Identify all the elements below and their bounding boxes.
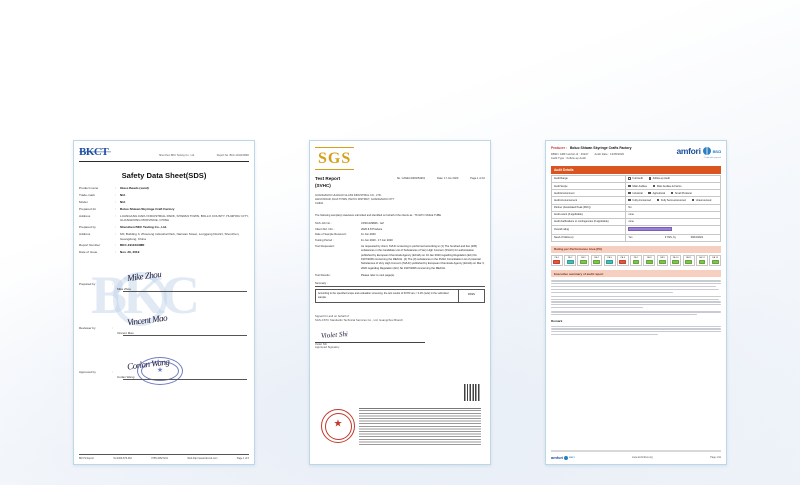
qr-code-icon xyxy=(464,384,481,401)
sgs-field-value: Please refer to next page(s). xyxy=(361,274,485,278)
followup-by-date: 09/10/2021 xyxy=(691,236,704,239)
rating-cell: PA 12 xyxy=(696,255,708,266)
audit-row-label: Audit Scope xyxy=(552,183,626,190)
section-header-ratings: Rating per Performance Area (PA) xyxy=(551,246,721,253)
producer-meta-type: Audit Type : Follow-up Audit xyxy=(551,157,632,161)
signature-role: Prepared by xyxy=(79,282,95,287)
certificate-card-amfori[interactable]: Producer : Boluo Shiwan Skyringe Crafts … xyxy=(545,140,727,465)
report-page: QUALI LNSPETION REPORT Strength certific… xyxy=(0,0,800,485)
audit-row-label: Audit clarifications or contingencies (i… xyxy=(552,218,626,225)
sgs-intro: The following sample(s) was/were submitt… xyxy=(315,214,485,218)
globe-icon xyxy=(703,147,711,155)
checkbox-icon[interactable] xyxy=(692,199,695,202)
sgs-date: Date: 17 Jun 2020 xyxy=(437,177,458,180)
audit-row-value: none xyxy=(626,211,721,218)
sgs-field-key: SGS Job No. : xyxy=(315,222,361,226)
table-row: Audit Range Full Audit Follow-up Audit xyxy=(552,175,721,182)
sgs-client-line: CHINA xyxy=(315,202,485,206)
sgs-content: SGS Test Report (SVHC) No. CANEC19002549… xyxy=(315,146,485,459)
option-label: Full Audit xyxy=(633,177,643,180)
signature-mark: Vincent Mao xyxy=(127,312,168,327)
sds-field: Report Number:BKC-1911034MR xyxy=(79,243,249,247)
checkbox-icon[interactable] xyxy=(648,192,651,195)
status-badge xyxy=(593,260,600,263)
rating-cell: PA 8 xyxy=(643,255,655,266)
sds-field-key: Trade-mark xyxy=(79,193,115,197)
footer-web: Web:http://www.bkcnsb.com xyxy=(187,457,217,460)
sds-header-report-no: Report No. BKC-1911034MR xyxy=(217,154,249,157)
rating-label: PA 6 xyxy=(618,257,628,259)
audit-row-label: Partner (Associated Peak (PAC)) xyxy=(552,204,626,211)
audit-details-table: Audit Range Full Audit Follow-up Audit A… xyxy=(551,175,721,242)
sgs-field-key: Date of Sample Received : xyxy=(315,233,361,237)
footer-page: Page 1/11 xyxy=(710,456,721,459)
sgs-summary-label: Summary : xyxy=(315,282,485,287)
bsci-wordmark-small: BSCI xyxy=(569,457,574,459)
note-block: Remark xyxy=(551,319,721,335)
signature-line xyxy=(123,335,247,336)
status-badge xyxy=(567,260,574,263)
table-row: Audit Environment Industrial Agricultura… xyxy=(552,190,721,197)
sgs-page: Page 1 of 10 xyxy=(470,177,485,180)
option-label: Unannounced xyxy=(696,199,712,202)
sgs-field: Test Results :Please refer to next page(… xyxy=(315,274,485,278)
option-label: Agricultural xyxy=(653,192,666,195)
star-icon: ★ xyxy=(334,419,343,430)
rating-cell: PA 4 xyxy=(591,255,603,266)
sds-field-list: Product name:Glass Beads (sand) Trade-ma… xyxy=(79,186,249,254)
rating-cell: PA 6 xyxy=(617,255,629,266)
need-followup-label: Need of follow-up xyxy=(552,234,626,241)
status-badge xyxy=(659,260,666,263)
sgs-field-value: CP20-029826 - GZ xyxy=(361,222,485,226)
footer-left: BKC'S Report xyxy=(79,457,94,460)
signature-role: Approved by xyxy=(79,370,96,375)
status-badge xyxy=(633,260,640,263)
sgs-summary-box: According to the specified scope and eva… xyxy=(315,289,485,303)
audit-row-options[interactable]: Full Audit Follow-up Audit xyxy=(626,175,721,182)
table-row: Overall rating xyxy=(552,226,721,235)
rating-cell: PA 5 xyxy=(604,255,616,266)
sds-field-value: Glass Beads (sand) xyxy=(120,186,149,190)
status-badge xyxy=(580,260,587,263)
footer-rule xyxy=(551,450,721,452)
producer-name: Boluo Shiwan Skyringe Crafts Factory xyxy=(570,146,632,151)
sgs-summary-text: According to the specified scope and eva… xyxy=(316,290,458,302)
signature-mark: Violet Shi xyxy=(321,330,348,340)
sgs-client-address: GUANGZHOU HUAGAO GLASS INDUSTRIAL CO., L… xyxy=(315,194,485,207)
sgs-field-key: Test Results : xyxy=(315,274,361,278)
sgs-title-line1: Test Report xyxy=(315,176,340,183)
sgs-field: Testing Period :11 Jun 2020 - 17 Jun 202… xyxy=(315,239,485,243)
checkbox-icon[interactable] xyxy=(671,192,674,195)
bsci-wordmark: BSCI xyxy=(713,149,721,154)
star-icon: ★ xyxy=(157,366,163,374)
producer-label: Producer : xyxy=(551,146,567,150)
sds-field: Model:N/A xyxy=(79,200,249,204)
summary-body-text xyxy=(551,280,721,315)
sds-field-key: Prepared by xyxy=(79,225,115,229)
status-badge xyxy=(553,260,560,263)
bkc-logo: BKCT xyxy=(79,146,108,158)
audit-row-label: Audit extent (if applicable) xyxy=(552,211,626,218)
followup-yes: Yes xyxy=(628,236,664,239)
rating-cell: PA 1 xyxy=(551,255,563,266)
checkbox-icon[interactable] xyxy=(628,177,631,180)
audit-row-label: Audit Announcement xyxy=(552,197,626,204)
sgs-field-value: 11 Jun 2020 xyxy=(361,233,485,237)
sgs-report-no: No. CANEC1900254901 xyxy=(397,177,425,180)
sds-field-key: Product name xyxy=(79,186,115,190)
legal-disclaimer-text xyxy=(359,409,481,445)
rating-cell: PA 10 xyxy=(670,255,682,266)
footer-fax: 0755-32527241 xyxy=(151,457,168,460)
checkbox-icon[interactable] xyxy=(628,192,631,195)
audit-row-options[interactable]: Fully Announced Fully Semi-announced Una… xyxy=(626,197,721,204)
sgs-title-row: Test Report (SVHC) No. CANEC1900254901 D… xyxy=(315,176,485,190)
sds-field-key: Prepared for xyxy=(79,207,115,211)
amfori-wordmark-small: amfori xyxy=(551,455,563,460)
sgs-logo-wrap: SGS xyxy=(315,146,485,168)
amfori-tagline: Trade with purpose xyxy=(676,157,721,159)
table-row: Audit clarifications or contingencies (i… xyxy=(552,218,721,225)
rating-cell: PA 9 xyxy=(657,255,669,266)
sds-field: Address:6/F, Building 3, Zhouteng Indust… xyxy=(79,232,249,241)
table-row: Audit Announcement Fully Announced Fully… xyxy=(552,197,721,204)
sgs-field: Test Requested :As requested by client, … xyxy=(315,245,485,271)
note-label: Remark xyxy=(551,319,721,324)
overall-rating-label: Overall rating xyxy=(552,226,626,235)
footer-url[interactable]: www.amforibsci.org xyxy=(632,456,653,459)
sds-field-key: Model xyxy=(79,200,115,204)
rating-label: PA 13 xyxy=(710,257,720,259)
rating-cell: PA 13 xyxy=(709,255,721,266)
option-label: Main Auditee xyxy=(633,185,647,188)
audit-row-options[interactable]: Industrial Agricultural Small Producer xyxy=(626,190,721,197)
rating-label: PA 1 xyxy=(552,257,562,259)
amfori-footer-logo: amfori BSCI xyxy=(551,455,574,460)
footer-row: amfori BSCI www.amforibsci.org Page 1/11 xyxy=(551,455,721,460)
footer-page: Page 1 of 6 xyxy=(237,457,249,460)
sds-field: Date of Issue:Nov. 29, 2019 xyxy=(79,250,249,254)
signature-colon: : xyxy=(112,282,113,286)
rating-label: PA 3 xyxy=(578,257,588,259)
checkbox-icon[interactable] xyxy=(657,199,660,202)
sds-field: Trade-mark:N/A xyxy=(79,193,249,197)
option-label: Industrial xyxy=(633,192,643,195)
sgs-summary-result: PASS xyxy=(458,290,484,302)
signature-block: Approved by Corlan Wang : Corlan Wang ★ xyxy=(79,357,249,391)
footer-row: BKC'S Report Tel:4000-875-362 0755-32527… xyxy=(79,457,249,460)
sgs-logo: SGS xyxy=(315,150,354,168)
signature-mark: Mike Zhou xyxy=(127,269,162,283)
sds-field: Prepared by:Shenzhen BKC Testing Co., Lt… xyxy=(79,225,249,229)
status-badge xyxy=(646,260,653,263)
signature-line xyxy=(123,291,247,292)
status-badge xyxy=(606,260,613,263)
sgs-field: Client Ref. Info. :2020.6.8 Produce xyxy=(315,228,485,232)
certificate-card-sds[interactable]: BKCT Shenzhen BKC Testing Co., Ltd. Repo… xyxy=(73,140,255,465)
checkbox-icon[interactable] xyxy=(653,185,656,188)
rating-cell: PA 2 xyxy=(564,255,576,266)
sds-title: Safety Data Sheet(SDS) xyxy=(79,171,249,180)
audit-row-label: Audit Environment xyxy=(552,190,626,197)
sds-footer: BKC'S Report Tel:4000-875-362 0755-32527… xyxy=(79,454,249,460)
rating-bar xyxy=(628,227,672,230)
sds-field-value: N/A xyxy=(120,193,125,197)
sds-header-meta: Shenzhen BKC Testing Co., Ltd. Report No… xyxy=(159,154,249,158)
sds-field-value: LUANGANG DAFU INDUSTRIAL PARK, SHIWAN TO… xyxy=(120,214,249,223)
table-row: Need of follow-up Yes if YES, by 09/10/2… xyxy=(552,234,721,241)
amfori-brand: amfori BSCI Trade with purpose xyxy=(676,146,721,159)
status-badge xyxy=(699,260,706,263)
amfori-header: Producer : Boluo Shiwan Skyringe Crafts … xyxy=(551,146,721,161)
rating-label: PA 7 xyxy=(631,257,641,259)
certificate-card-sgs[interactable]: SGS Test Report (SVHC) No. CANEC19002549… xyxy=(309,140,491,465)
footer-tel: Tel:4000-875-362 xyxy=(113,457,132,460)
sds-header: BKCT Shenzhen BKC Testing Co., Ltd. Repo… xyxy=(79,146,249,158)
sgs-title: Test Report (SVHC) xyxy=(315,176,340,190)
sgs-summary: Summary : According to the specified sco… xyxy=(315,282,485,303)
rating-label: PA 2 xyxy=(565,257,575,259)
sds-field-value: 6/F, Building 3, Zhouteng Industrial Par… xyxy=(120,232,249,241)
sgs-field: SGS Job No. :CP20-029826 - GZ xyxy=(315,222,485,226)
sds-field-key: Date of Issue xyxy=(79,250,115,254)
sds-field: Prepared for:Boluo Shiwan Skyringe Craft… xyxy=(79,207,249,211)
sgs-signature-area: Violet Shi Violet Shi Approved Signatory xyxy=(315,333,485,351)
checkbox-icon[interactable] xyxy=(628,185,631,188)
sgs-field-list: SGS Job No. :CP20-029826 - GZ Client Ref… xyxy=(315,222,485,278)
producer-block: Producer : Boluo Shiwan Skyringe Crafts … xyxy=(551,146,632,161)
signature-colon: : xyxy=(112,326,113,330)
rating-cell: PA 7 xyxy=(630,255,642,266)
signature-block: Reviewer by Vincent Mao : Vincent Mao xyxy=(79,313,249,343)
amfori-wordmark: amfori xyxy=(676,146,700,156)
sds-field-value: Boluo Shiwan Skyringe Craft Factory xyxy=(120,207,175,211)
sgs-field-key: Client Ref. Info. : xyxy=(315,228,361,232)
sgs-field-key: Test Requested : xyxy=(315,245,361,271)
status-badge xyxy=(685,260,692,263)
status-badge xyxy=(619,260,626,263)
option-label: Fully Semi-announced xyxy=(661,199,686,202)
sds-field-value: Shenzhen BKC Testing Co., Ltd. xyxy=(120,225,167,229)
globe-icon xyxy=(564,456,568,460)
audit-row-label: Audit Range xyxy=(552,175,626,182)
overall-rating-value xyxy=(626,226,721,235)
signature-role: Reviewer by xyxy=(79,326,96,331)
sds-field-value: Nov. 29, 2019 xyxy=(120,250,139,254)
table-row: Audit Scope Main Auditee Main Auditee & … xyxy=(552,183,721,190)
signature-block: Prepared by Mike Zhou : Mike Zhou xyxy=(79,269,249,299)
checkbox-icon[interactable] xyxy=(628,199,631,202)
signatory-role: Approved Signatory xyxy=(315,346,340,350)
rating-label: PA 9 xyxy=(658,257,668,259)
option-label: Fully Announced xyxy=(633,199,652,202)
sgs-field-key: Testing Period : xyxy=(315,239,361,243)
certificate-gallery: BKCT Shenzhen BKC Testing Co., Ltd. Repo… xyxy=(0,140,800,465)
amfori-footer: amfori BSCI www.amforibsci.org Page 1/11 xyxy=(551,450,721,460)
rating-label: PA 4 xyxy=(592,257,602,259)
checkbox-icon[interactable] xyxy=(649,177,652,180)
section-header-audit-details: Audit Details xyxy=(551,166,721,174)
signature-line xyxy=(123,379,247,380)
table-row: Audit extent (if applicable) none xyxy=(552,211,721,218)
sds-field-value: BKC-1911034MR xyxy=(120,243,144,247)
rating-label: PA 5 xyxy=(605,257,615,259)
rating-label: PA 11 xyxy=(684,257,694,259)
rating-label: PA 10 xyxy=(671,257,681,259)
rating-label: PA 12 xyxy=(697,257,707,259)
audit-row-value: No xyxy=(626,204,721,211)
sgs-field: Date of Sample Received :11 Jun 2020 xyxy=(315,233,485,237)
status-badge xyxy=(672,260,679,263)
audit-row-options[interactable]: Main Auditee Main Auditee & Farms xyxy=(626,183,721,190)
sgs-meta: No. CANEC1900254901 Date: 17 Jun 2020 Pa… xyxy=(397,176,485,180)
sgs-red-stamp-icon: ★ xyxy=(321,409,355,443)
followup-by-label: if YES, by xyxy=(665,236,690,239)
sgs-signed-block: Signed for and on behalf of SGS-CSTC Sta… xyxy=(315,315,485,323)
company-stamp-icon: ★ xyxy=(137,357,183,385)
sds-header-rule xyxy=(79,161,249,162)
footer-rule xyxy=(79,454,249,455)
rating-label: PA 8 xyxy=(644,257,654,259)
section-header-summary: Executive summary of audit report xyxy=(551,270,721,277)
sds-field: Address:LUANGANG DAFU INDUSTRIAL PARK, S… xyxy=(79,214,249,223)
sgs-signed-line2: SGS-CSTC Standards Technical Services Co… xyxy=(315,319,485,323)
sgs-title-line2: (SVHC) xyxy=(315,183,340,190)
sds-field-key: Address xyxy=(79,214,115,223)
sds-content: BKCT Shenzhen BKC Testing Co., Ltd. Repo… xyxy=(79,146,249,459)
sgs-field-value: As requested by client, SVHC screening i… xyxy=(361,245,485,271)
ratings-row: PA 1 PA 2 PA 3 PA 4 PA 5 PA 6 PA 7 PA 8 … xyxy=(551,255,721,266)
option-label: Small Producer xyxy=(675,192,692,195)
rating-cell: PA 11 xyxy=(683,255,695,266)
signature-line xyxy=(315,342,425,343)
need-followup-value: Yes if YES, by 09/10/2021 xyxy=(626,234,721,241)
option-label: Follow-up Audit xyxy=(653,177,670,180)
sgs-field-value: 2020.6.8 Produce xyxy=(361,228,485,232)
sds-field-value: N/A xyxy=(120,200,125,204)
table-row: Partner (Associated Peak (PAC)) No xyxy=(552,204,721,211)
amfori-content: Producer : Boluo Shiwan Skyringe Crafts … xyxy=(551,146,721,459)
status-badge xyxy=(712,260,719,263)
sds-field: Product name:Glass Beads (sand) xyxy=(79,186,249,190)
sds-header-company: Shenzhen BKC Testing Co., Ltd. xyxy=(159,154,195,157)
producer-meta-date: Audit Date : 13/05/2020 xyxy=(595,153,625,157)
signature-colon: : xyxy=(112,370,113,374)
sds-field-key: Report Number xyxy=(79,243,115,247)
option-label: Main Auditee & Farms xyxy=(657,185,682,188)
sds-field-key: Address xyxy=(79,232,115,241)
sgs-field-value: 11 Jun 2020 - 17 Jun 2020 xyxy=(361,239,485,243)
audit-row-value: none xyxy=(626,218,721,225)
rating-cell: PA 3 xyxy=(577,255,589,266)
